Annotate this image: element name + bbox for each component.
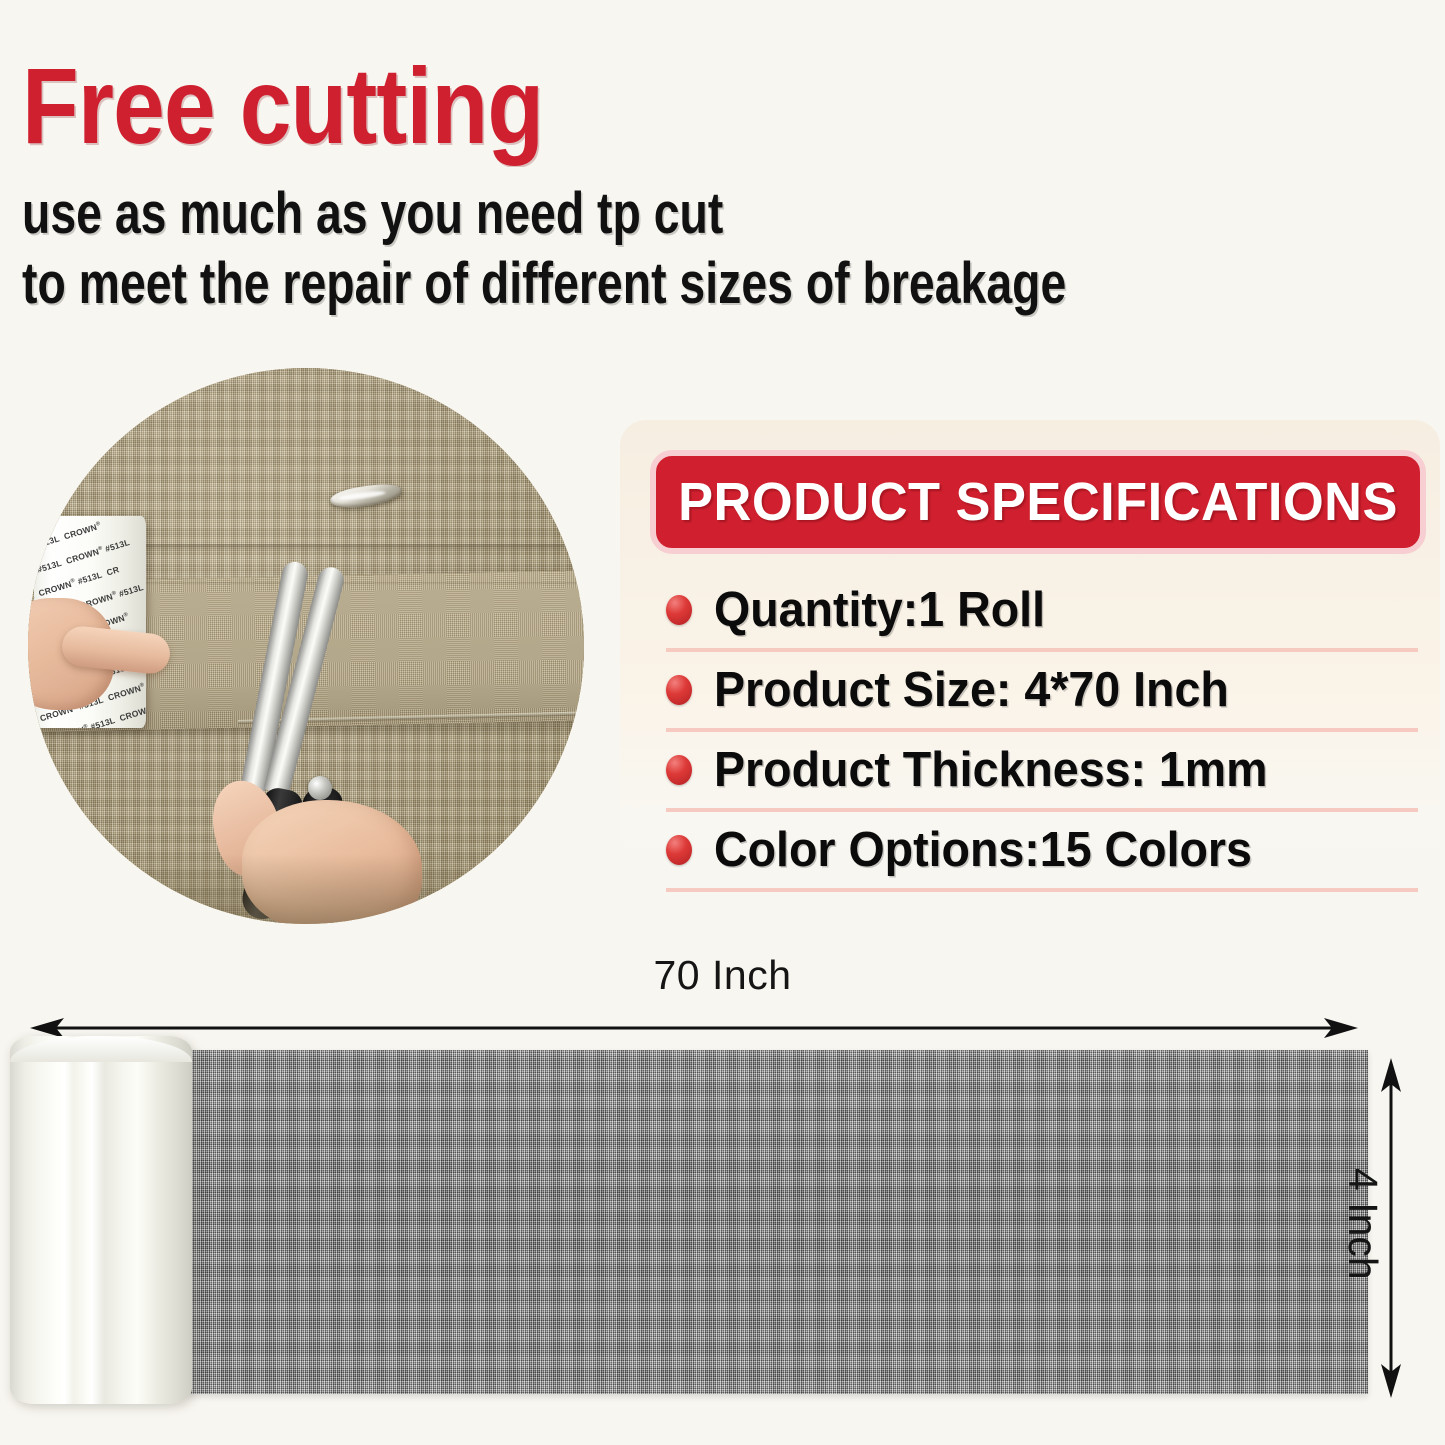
width-dimension-label: 4 Inch [1339,1168,1386,1280]
infographic-page: Free cutting use as much as you need tp … [0,0,1445,1445]
specifications-banner: PRODUCT SPECIFICATIONS [650,450,1426,554]
page-title: Free cutting [22,52,543,160]
spec-item-product-thickness: Product Thickness: 1mm [666,732,1418,812]
spec-item-label: Product Thickness: 1mm [714,742,1268,798]
spec-item-label: Quantity:1 Roll [714,582,1045,638]
product-tape-roll [10,1036,192,1404]
cutting-demo-photo: CROWN® #513L CROWN® #513L CROWN® #513L C… [28,368,584,924]
spec-item-label: Product Size: 4*70 Inch [714,662,1229,718]
subtitle-line-2: to meet the repair of different sizes of… [22,255,1066,313]
spec-item-product-size: Product Size: 4*70 Inch [666,652,1418,732]
bullet-icon [666,835,692,865]
spec-item-label: Color Options:15 Colors [714,822,1252,878]
product-fabric-strip [188,1050,1368,1394]
subtitle-line-1: use as much as you need tp cut [22,185,723,243]
length-dimension-label: 70 Inch [0,952,1445,999]
bullet-icon [666,755,692,785]
spec-item-color-options: Color Options:15 Colors [666,812,1418,892]
specifications-list: Quantity:1 Roll Product Size: 4*70 Inch … [666,572,1418,892]
scissors-pivot-screw [308,776,332,800]
product-specifications-panel: PRODUCT SPECIFICATIONS Quantity:1 Roll P… [620,420,1440,898]
bullet-icon [666,675,692,705]
specifications-banner-title: PRODUCT SPECIFICATIONS [678,471,1398,533]
bullet-icon [666,595,692,625]
cushion-shadow [28,854,584,924]
spec-item-quantity: Quantity:1 Roll [666,572,1418,652]
length-dimension-arrow-icon [30,1014,1358,1042]
